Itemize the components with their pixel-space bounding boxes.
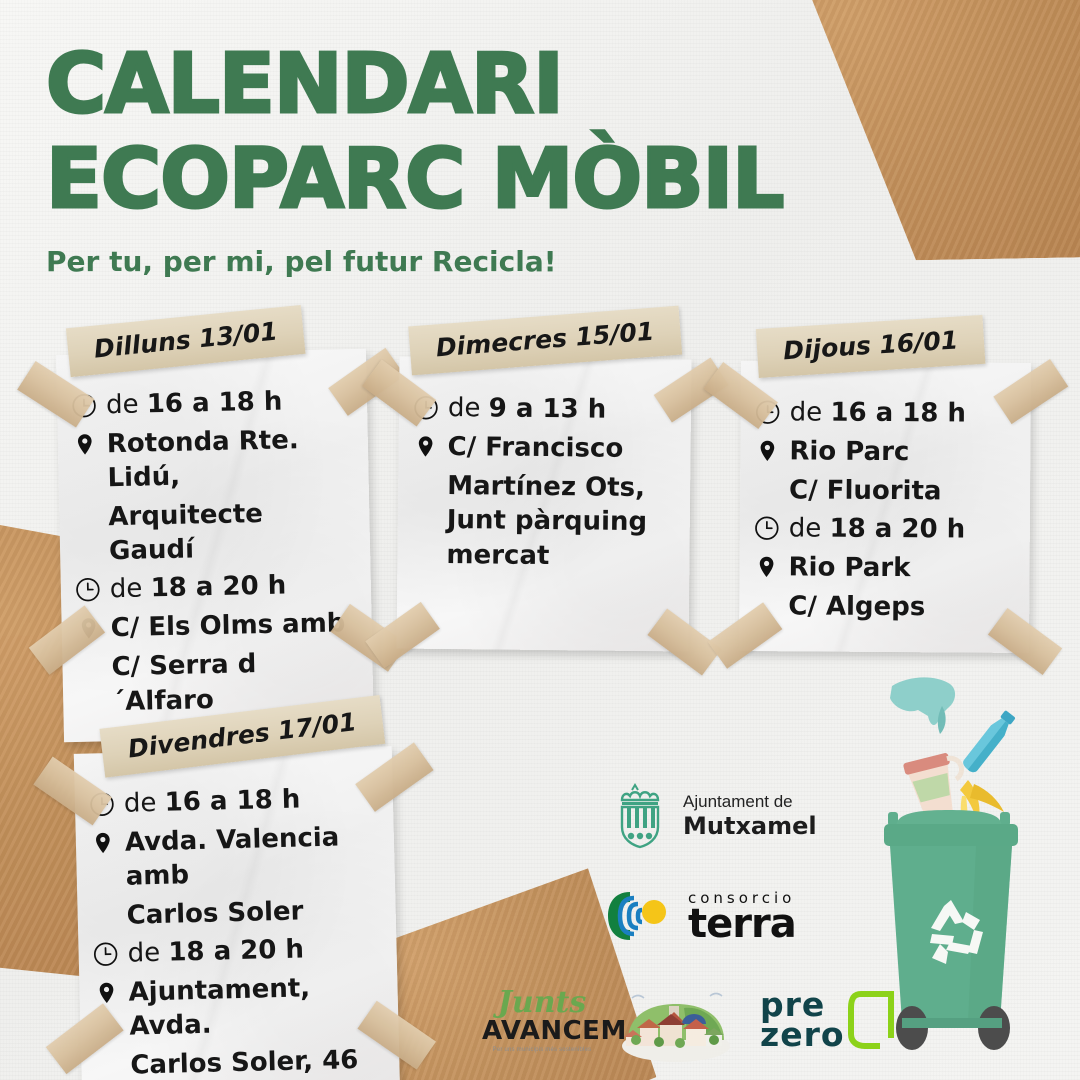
bin-lid-rim xyxy=(884,824,1018,846)
place-line: mercat xyxy=(446,538,673,575)
note-paper: de 9 a 13 h C/ Francisco Martínez Ots, J… xyxy=(396,356,691,651)
place-line: Avda. Valencia amb xyxy=(125,820,380,895)
mutxamel-label-line2: Mutxamel xyxy=(683,812,817,840)
place-line: Rotonda Rte. Lidú, xyxy=(107,422,353,496)
time-text: de 16 a 18 h xyxy=(106,385,283,423)
terra-mark-icon xyxy=(608,888,680,944)
place-row: Rio Parc xyxy=(754,434,1014,471)
time-row: de 16 a 18 h xyxy=(89,781,378,823)
time-row: de 18 a 20 h xyxy=(75,567,356,608)
time-text: de 16 a 18 h xyxy=(790,395,967,431)
poster-header: CALENDARI ECOPARC MÒBIL Per tu, per mi, … xyxy=(46,46,783,278)
schedule-card-monday: Dilluns 13/01 de 16 a 18 h Rotonda Rte. … xyxy=(56,349,374,742)
poster-subtitle: Per tu, per mi, pel futur Recicla! xyxy=(46,245,783,278)
junts-main-text: AVANCEM xyxy=(482,1018,602,1045)
schedule-card-friday: Divendres 17/01 de 16 a 18 h Avda. Valen… xyxy=(74,746,401,1080)
place-line: C/ Francisco xyxy=(447,430,623,466)
clock-icon xyxy=(75,577,102,609)
place-row: C/ Els Olms amb xyxy=(75,606,356,647)
map-pin-icon xyxy=(754,438,780,469)
page-title-line-1: CALENDARI xyxy=(46,46,783,125)
schedule-card-wednesday: Dimecres 15/01 de 9 a 13 h C/ Francisco … xyxy=(396,356,691,651)
junts-tagline: Per uns municipis més sostenibles xyxy=(482,1047,602,1053)
terra-label-line2: terra xyxy=(688,907,796,942)
prezero-line2: zero xyxy=(760,1020,845,1050)
plastic-bag-icon xyxy=(890,677,955,734)
mutxamel-label-line1: Ajuntament de xyxy=(683,792,817,812)
time-row: de 18 a 20 h xyxy=(754,511,1014,548)
junts-script-text: Junts xyxy=(482,988,602,1018)
time-text: de 18 a 20 h xyxy=(110,569,287,607)
clock-icon xyxy=(754,515,780,546)
place-line: Carlos Soler, 46 xyxy=(130,1042,384,1080)
logo-prezero: pre zero xyxy=(760,988,899,1052)
place-row: Rio Park xyxy=(753,550,1013,587)
time-text: de 18 a 20 h xyxy=(127,932,304,971)
place-row: Rotonda Rte. Lidú, xyxy=(72,422,353,496)
place-line: Arquitecte Gaudí xyxy=(108,495,354,569)
time-row: de 18 a 20 h xyxy=(92,930,381,972)
plastic-bottle-icon xyxy=(961,709,1018,775)
time-row: de 16 a 18 h xyxy=(755,395,1015,432)
place-line: C/ Algeps xyxy=(788,590,1013,626)
map-pin-icon xyxy=(753,554,779,585)
map-pin-icon xyxy=(72,431,99,463)
schedule-card-thursday: Dijous 16/01 de 16 a 18 h Rio Parc C/ Fl… xyxy=(739,361,1031,653)
place-line: Rio Park xyxy=(788,551,910,586)
time-text: de 18 a 20 h xyxy=(789,512,966,548)
time-text: de 16 a 18 h xyxy=(124,782,301,821)
place-line: Martínez Ots, xyxy=(447,469,674,506)
coffee-cup-icon xyxy=(903,750,971,820)
page-title-line-2: ECOPARC MÒBIL xyxy=(46,141,783,220)
poster-canvas: CALENDARI ECOPARC MÒBIL Per tu, per mi, … xyxy=(0,0,1080,1080)
place-line: Rio Parc xyxy=(789,434,909,469)
time-text: de 9 a 13 h xyxy=(448,391,607,427)
map-pin-icon xyxy=(412,434,438,465)
place-row: Ajuntament, Avda. xyxy=(93,969,383,1045)
time-row: de 9 a 13 h xyxy=(413,391,675,429)
map-pin-icon xyxy=(90,830,117,862)
clock-icon xyxy=(92,941,119,973)
note-paper: de 16 a 18 h Rotonda Rte. Lidú, Arquitec… xyxy=(56,349,374,742)
place-line: Junt pàrquing xyxy=(447,503,674,540)
time-row: de 16 a 18 h xyxy=(71,383,352,424)
logo-junts-avancem: Junts AVANCEM Per uns municipis més sost… xyxy=(482,988,602,1053)
place-row: C/ Francisco xyxy=(412,430,674,468)
place-line: C/ Fluorita xyxy=(789,473,1014,509)
logo-consorcio-terra: consorcio terra xyxy=(608,888,796,944)
mutxamel-crest-icon xyxy=(612,782,670,850)
prezero-leaf-icon xyxy=(847,988,899,1052)
village-illustration xyxy=(614,988,738,1069)
logo-ajuntament-mutxamel: Ajuntament de Mutxamel xyxy=(612,782,817,850)
place-line: Ajuntament, Avda. xyxy=(128,969,383,1044)
place-line: C/ Els Olms amb xyxy=(110,607,345,646)
place-line: Carlos Soler xyxy=(126,892,380,932)
note-paper: de 16 a 18 h Rio Parc C/ Fluorita de 18 … xyxy=(739,361,1031,653)
place-row: Avda. Valencia amb xyxy=(90,820,380,896)
